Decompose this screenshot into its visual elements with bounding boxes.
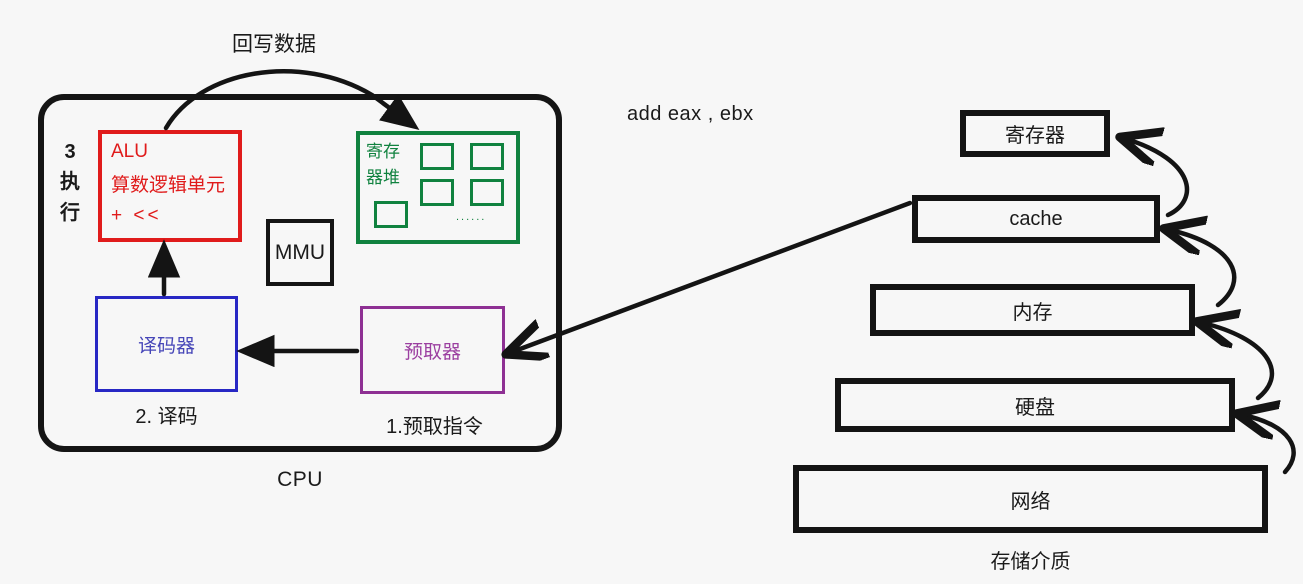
register-cell	[470, 179, 504, 206]
storage-level-label: 寄存器	[1005, 119, 1065, 148]
storage-level-memory: 内存	[870, 284, 1195, 336]
decoder-caption: 2. 译码	[95, 400, 238, 429]
storage-level-register: 寄存器	[960, 110, 1110, 157]
writeback-annotation: 回写数据	[232, 28, 316, 58]
storage-level-cache: cache	[912, 195, 1160, 243]
execute-stage-char-2: 行	[55, 198, 85, 228]
decoder-label: 译码器	[138, 331, 195, 358]
cache-to-prefetcher-arrow	[512, 203, 910, 352]
execute-stage-label: 3 执 行	[55, 137, 85, 228]
alu-operations: + <<	[111, 205, 238, 227]
prefetcher-box: 预取器	[360, 306, 505, 394]
storage-level-disk: 硬盘	[835, 378, 1235, 432]
prefetcher-label: 预取器	[404, 337, 461, 364]
register-file-label: 寄存 器堆	[366, 139, 408, 190]
cpu-caption: CPU	[38, 468, 562, 492]
decoder-box: 译码器	[95, 296, 238, 392]
storage-level-label: 硬盘	[1015, 391, 1055, 420]
mmu-box: MMU	[266, 219, 334, 286]
register-cell	[470, 143, 504, 170]
register-file-label-line-1: 寄存	[366, 139, 408, 165]
storage-level-label: cache	[1009, 208, 1062, 231]
instruction-annotation: add eax , ebx	[627, 103, 754, 126]
register-cell	[420, 179, 454, 206]
execute-stage-number: 3	[55, 137, 85, 167]
register-cell	[374, 201, 408, 228]
storage-level-label: 网络	[1011, 485, 1051, 514]
diagram-canvas: 3 执 行 ALU 算数逻辑单元 + << MMU 寄存 器堆 ...... 译…	[0, 0, 1303, 584]
alu-title: ALU	[111, 141, 238, 163]
storage-level-label: 内存	[1013, 296, 1053, 325]
prefetcher-caption: 1.预取指令	[352, 410, 517, 439]
execute-stage-char-1: 执	[55, 167, 85, 197]
storage-level-network: 网络	[793, 465, 1268, 533]
alu-subtitle: 算数逻辑单元	[111, 170, 238, 197]
register-file-label-line-2: 器堆	[366, 165, 408, 191]
mmu-label: MMU	[275, 241, 325, 265]
register-cell	[420, 143, 454, 170]
storage-media-caption: 存储介质	[793, 545, 1268, 574]
network-to-disk-arrow	[1243, 415, 1294, 472]
register-file-ellipsis: ......	[456, 211, 486, 223]
register-file-box: 寄存 器堆 ......	[356, 131, 520, 244]
alu-box: ALU 算数逻辑单元 + <<	[98, 130, 242, 242]
